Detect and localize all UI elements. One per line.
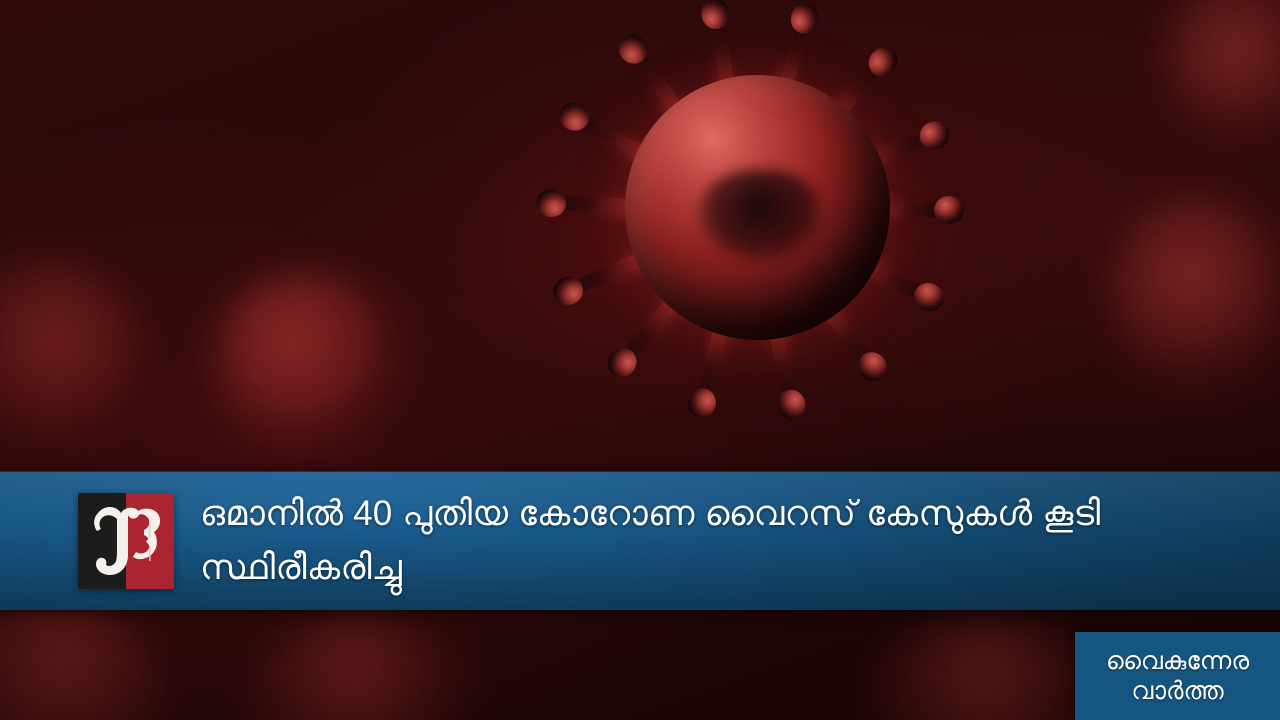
background-virion-blur-6 xyxy=(248,618,478,720)
virus-background-photo xyxy=(0,0,1280,720)
news-broadcast-frame: ഒമാനിൽ 40 പുതിയ കോറോണ വൈറസ് കേസുകൾ കൂടി … xyxy=(0,0,1280,720)
headline-text: ഒമാനിൽ 40 പുതിയ കോറോണ വൈറസ് കേസുകൾ കൂടി … xyxy=(200,487,1130,596)
background-virion-blur-4 xyxy=(0,258,142,438)
headline-line-1: ഒമാനിൽ 40 പുതിയ കോറോണ വൈറസ് കേസുകൾ കൂടി xyxy=(200,494,1100,533)
programme-badge: വൈകുന്നേര വാർത്ത xyxy=(1075,632,1280,720)
times-of-oman-logo xyxy=(78,493,174,589)
logo-letter-t-icon xyxy=(78,493,174,589)
background-virion-blur-7 xyxy=(860,620,1110,720)
background-virion-blur-3 xyxy=(1108,196,1280,396)
virion-body xyxy=(625,75,890,340)
background-virion-blur-5 xyxy=(1160,0,1280,140)
programme-badge-line-2: വാർത്ത xyxy=(1131,676,1223,707)
background-virion-blur-8 xyxy=(0,600,160,720)
lower-third-banner: ഒമാനിൽ 40 പുതിയ കോറോണ വൈറസ് കേസുകൾ കൂടി … xyxy=(0,472,1280,610)
headline-line-2: സ്ഥിരീകരിച്ചു xyxy=(200,541,1100,595)
programme-badge-line-1: വൈകുന്നേര xyxy=(1106,646,1249,677)
background-virion-blur-2 xyxy=(232,282,372,412)
coronavirus-particle xyxy=(500,0,1000,460)
